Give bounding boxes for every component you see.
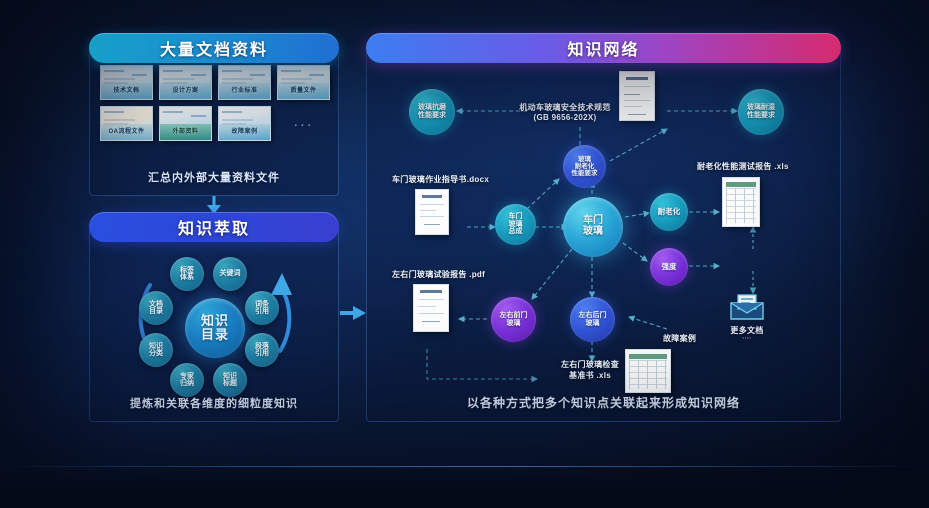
document-thumbnail-label: 行业标准 [219, 85, 270, 94]
wheel-node-expert-summary[interactable]: 专家 归纳 [170, 363, 204, 397]
node-label: 玻璃耐湿 [747, 104, 775, 112]
extract-panel-caption: 提炼和关联各维度的细粒度知识 [90, 395, 338, 411]
more-docs-label-line2: ···· [707, 336, 787, 342]
document-thumbnail[interactable]: 技术文档 [100, 65, 153, 100]
bottom-strip [0, 466, 929, 508]
work-instruction-label: 车门玻璃作业指导书.docx [392, 174, 489, 185]
node-aging-resistance[interactable]: 耐老化 [650, 193, 688, 231]
node-front-door-glass[interactable]: 左右前门 玻璃 [491, 297, 536, 342]
node-rear-door-glass[interactable]: 左右后门 玻璃 [570, 297, 615, 342]
node-door-glass-assembly[interactable]: 车门 玻璃 总成 [495, 204, 536, 245]
wheel-node-keyword[interactable]: 关键词 [213, 257, 247, 291]
node-door-glass[interactable]: 车门 玻璃 [563, 197, 623, 257]
wheel-node-label: 词条 [255, 301, 269, 308]
node-label: 左右前门 [500, 312, 528, 320]
wheel-node-label: 分类 [149, 350, 163, 357]
wheel-center-node[interactable]: 知识 目录 [185, 298, 245, 358]
right-arrow-icon [340, 305, 366, 321]
wheel-node-knowledge-classification[interactable]: 知识 分类 [139, 333, 173, 367]
wheel-node-label: 知识 [149, 343, 163, 350]
document-thumbnail-label: 故障案例 [219, 126, 270, 135]
slide-canvas: 大量文档资料 技术文档 设计方案 行业标准 质量文件 [0, 0, 929, 508]
wheel-node-knowledge-title[interactable]: 知识 标题 [213, 363, 247, 397]
document-thumbnail[interactable]: OA流程文件 [100, 106, 153, 141]
inspection-standard-card[interactable] [625, 349, 671, 393]
docs-panel-title-pill: 大量文档资料 [89, 33, 339, 63]
docs-panel-caption: 汇总内外部大量资料文件 [90, 169, 338, 185]
wheel-node-label: 文档 [149, 301, 163, 308]
node-label: 玻璃 [583, 227, 603, 238]
network-panel-title: 知识网络 [567, 36, 639, 60]
network-panel: 机动车玻璃安全技术规范 (GB 9656-202X) 玻璃抗磨 性能要求 玻璃耐… [366, 48, 841, 422]
aging-test-report-card[interactable] [722, 177, 760, 227]
more-docs-label: 更多文档 ···· [707, 325, 787, 342]
fault-case-label: 故障案例 [663, 333, 696, 344]
node-strength[interactable]: 强度 [650, 248, 688, 286]
wheel-center-label-line1: 知识 [201, 314, 229, 328]
document-thumbnail-label: OA流程文件 [101, 126, 152, 135]
node-label: 性能要求 [747, 112, 775, 120]
standard-label: 机动车玻璃安全技术规范 (GB 9656-202X) [505, 102, 625, 122]
wheel-node-tag-system[interactable]: 标签 体系 [170, 257, 204, 291]
document-thumbnail[interactable]: 质量文件 [277, 65, 330, 100]
wheel-node-label: 归纳 [180, 380, 194, 387]
test-report-label: 左右门玻璃试验报告 .pdf [392, 269, 485, 280]
wheel-node-label: 知识 [223, 373, 237, 380]
knowledge-graph: 机动车玻璃安全技术规范 (GB 9656-202X) 玻璃抗磨 性能要求 玻璃耐… [367, 49, 842, 423]
document-thumbnail[interactable]: 外部资料 [159, 106, 212, 141]
aging-test-report-label: 耐老化性能测试报告 .xls [697, 161, 789, 172]
extract-panel-title-pill: 知识萃取 [89, 212, 339, 242]
node-label: 玻璃 [500, 320, 528, 328]
wheel-node-paragraph-reference[interactable]: 段落 引用 [245, 333, 279, 367]
wheel-center-label-line2: 目录 [201, 328, 229, 342]
extract-panel-title: 知识萃取 [178, 215, 250, 239]
wheel-node-label: 引用 [255, 350, 269, 357]
node-label: 玻璃抗磨 [418, 104, 446, 112]
wheel-node-label: 引用 [255, 308, 269, 315]
node-label: 车门 [509, 213, 523, 221]
work-instruction-document-card[interactable] [415, 189, 449, 235]
node-glass-wear-requirement[interactable]: 玻璃抗磨 性能要求 [409, 89, 455, 135]
document-thumbnail-label: 质量文件 [278, 85, 329, 94]
node-glass-humidity-requirement[interactable]: 玻璃耐湿 性能要求 [738, 89, 784, 135]
wheel-node-label: 标题 [223, 380, 237, 387]
node-label: 耐老化 [572, 163, 598, 170]
document-thumbnail[interactable]: 设计方案 [159, 65, 212, 100]
knowledge-wheel: 知识 目录 标签 体系 关键词 词条 引用 [90, 243, 340, 393]
node-glass-aging-requirement[interactable]: 玻璃 耐老化 性能要求 [563, 145, 606, 188]
more-docs-folder-icon[interactable] [729, 293, 765, 326]
node-label: 玻璃 [579, 320, 607, 328]
wheel-node-term-reference[interactable]: 词条 引用 [245, 291, 279, 325]
wheel-node-label: 目录 [149, 308, 163, 315]
document-thumbnail-label: 外部资料 [160, 126, 211, 135]
wheel-node-label: 关键词 [220, 270, 241, 277]
document-thumbnail-grid: 技术文档 设计方案 行业标准 质量文件 OA流程文件 [100, 65, 330, 141]
network-panel-title-pill: 知识网络 [366, 33, 841, 63]
wheel-node-label: 段落 [255, 343, 269, 350]
node-label: 左右后门 [579, 312, 607, 320]
test-report-document-card[interactable] [413, 284, 449, 332]
node-label: 性能要求 [418, 112, 446, 120]
more-docs-label-line1: 更多文档 [707, 325, 787, 336]
network-panel-caption: 以各种方式把多个知识点关联起来形成知识网络 [367, 394, 840, 411]
node-label: 耐老化 [658, 208, 681, 216]
document-thumbnail[interactable]: 故障案例 [218, 106, 271, 141]
wheel-node-label: 专家 [180, 373, 194, 380]
extract-panel: 知识 目录 标签 体系 关键词 词条 引用 [89, 228, 339, 422]
node-label: 性能要求 [572, 170, 598, 177]
docs-panel: 技术文档 设计方案 行业标准 质量文件 OA流程文件 [89, 48, 339, 196]
node-label: 强度 [662, 263, 677, 271]
document-thumbnail-label: 设计方案 [160, 85, 211, 94]
wheel-node-label: 体系 [180, 274, 194, 281]
standard-label-line1: 机动车玻璃安全技术规范 [505, 102, 625, 113]
wheel-node-label: 标签 [180, 267, 194, 274]
wheel-node-document-catalog[interactable]: 文档 目录 [139, 291, 173, 325]
document-thumbnail-label: 技术文档 [101, 85, 152, 94]
node-label: 总成 [509, 228, 523, 236]
more-documents-ellipsis: ··· [277, 106, 330, 141]
node-label: 玻璃 [572, 156, 598, 163]
document-thumbnail[interactable]: 行业标准 [218, 65, 271, 100]
docs-panel-title: 大量文档资料 [160, 36, 268, 60]
standard-label-line2: (GB 9656-202X) [505, 113, 625, 122]
